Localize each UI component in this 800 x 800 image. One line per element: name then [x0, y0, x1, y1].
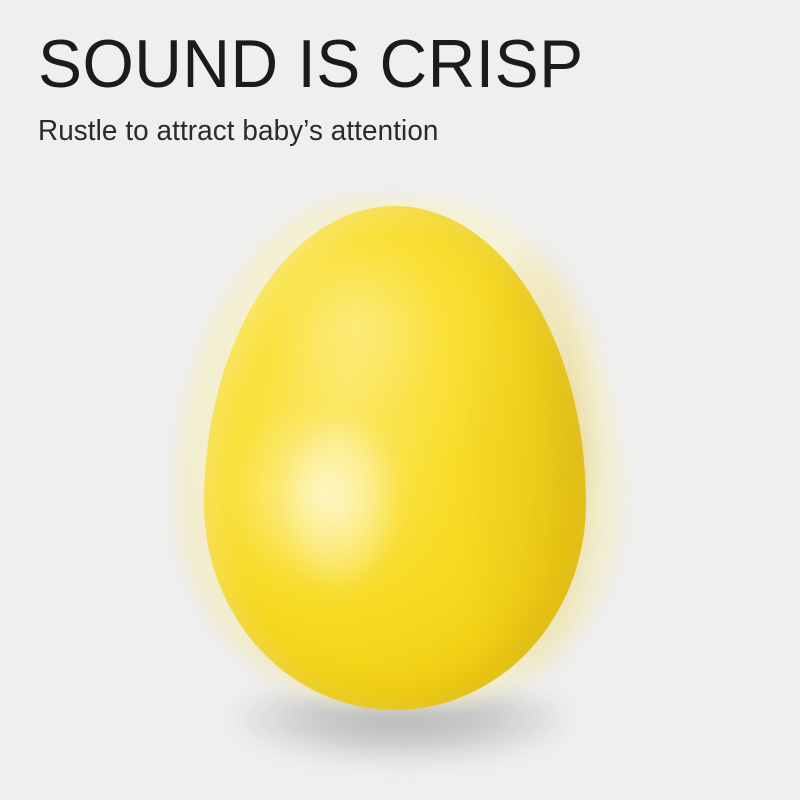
product-poster: SOUND IS CRISP Rustle to attract baby’s … — [0, 0, 800, 800]
egg-rattle-highlight — [288, 424, 392, 588]
poster-text-block: SOUND IS CRISP Rustle to attract baby’s … — [38, 28, 738, 148]
poster-subheadline: Rustle to attract baby’s attention — [38, 100, 710, 148]
egg-rattle-shading — [470, 250, 590, 670]
poster-headline: SOUND IS CRISP — [38, 28, 717, 100]
